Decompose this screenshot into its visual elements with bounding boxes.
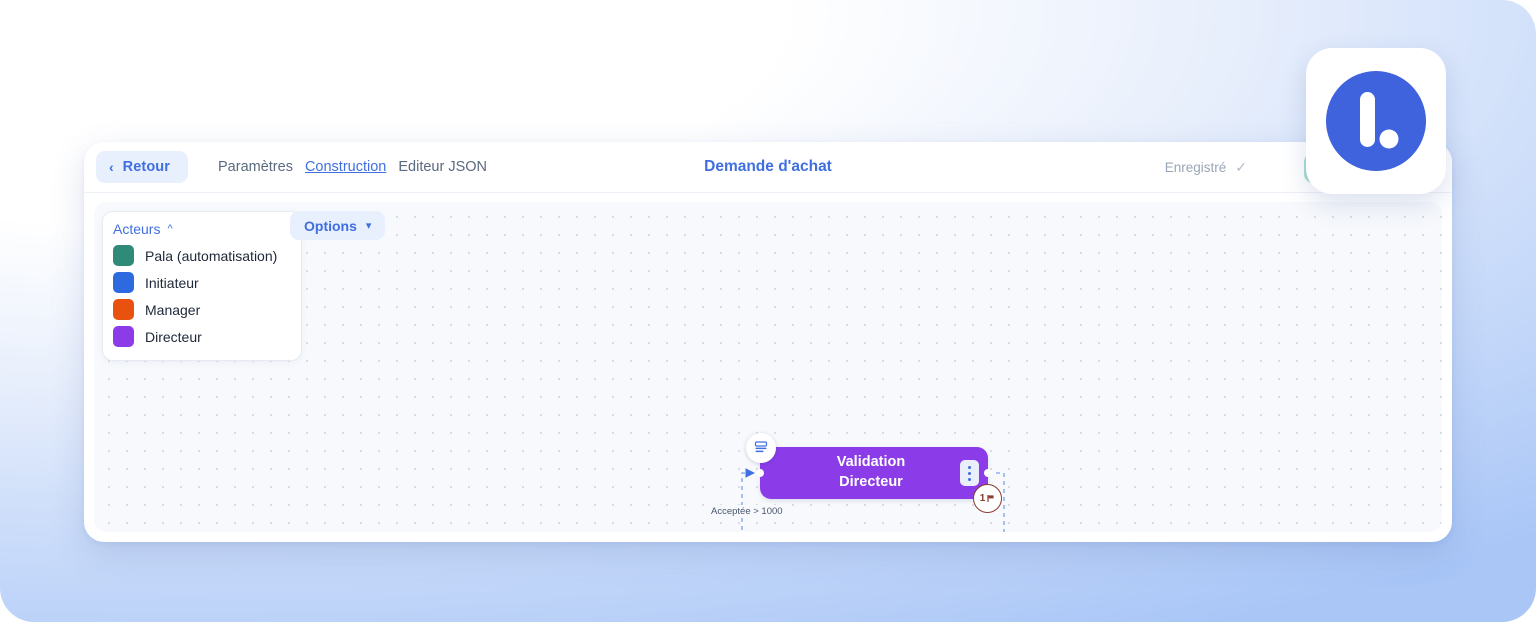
pala-logo [1306,48,1446,194]
breadcrumb: Paramètres Construction Editeur JSON [218,142,487,192]
legend-item-label: Manager [145,302,200,318]
actors-legend-panel: Acteurs ^ Pala (automatisation) Initiate… [102,211,302,361]
edge-label-condition-high: Acceptée > 1000 [706,505,788,518]
legend-item-pala: Pala (automatisation) [113,242,291,269]
top-bar: ‹ Retour Paramètres Construction Editeur… [84,142,1452,193]
legend-swatch [113,245,134,266]
breadcrumb-item-construction[interactable]: Construction [305,159,386,175]
legend-item-initiateur: Initiateur [113,269,291,296]
node-input-port [756,469,764,477]
legend-swatch [113,299,134,320]
save-status-label: Enregistré [1165,160,1227,175]
legend-item-directeur: Directeur [113,323,291,350]
app-window: ‹ Retour Paramètres Construction Editeur… [84,142,1452,542]
legend-item-label: Pala (automatisation) [145,248,277,264]
options-button[interactable]: Options ▾ [290,211,385,240]
actors-legend-header[interactable]: Acteurs ^ [113,221,291,237]
chevron-down-icon: ▾ [366,219,372,232]
legend-item-label: Initiateur [145,275,199,291]
node-line-2: Directeur [839,474,903,490]
flow-node-label: Validation Directeur [799,453,950,492]
form-icon [746,433,776,463]
breadcrumb-item-editeur-json[interactable]: Editeur JSON [398,159,487,175]
flow-node-validation-directeur[interactable]: Validation Directeur 1 [760,447,988,499]
legend-item-manager: Manager [113,296,291,323]
check-icon: ✓ [1235,159,1247,176]
flag-icon [986,494,995,503]
node-output-port [984,469,992,477]
flow-canvas[interactable]: Acteurs ^ Pala (automatisation) Initiate… [94,202,1442,532]
back-button-label: Retour [123,159,170,175]
save-status: Enregistré ✓ [1165,142,1247,192]
node-line-1: Validation [837,454,906,470]
page-root: ‹ Retour Paramètres Construction Editeur… [0,0,1536,622]
kebab-menu-icon[interactable] [960,460,979,486]
chevron-up-icon: ^ [167,223,172,235]
legend-swatch [113,326,134,347]
status-badge-count: 1 [980,492,986,506]
options-button-label: Options [304,218,357,234]
actors-legend-title: Acteurs [113,221,160,237]
legend-swatch [113,272,134,293]
breadcrumb-item-parametres[interactable]: Paramètres [218,159,293,175]
status-badge: 1 [973,484,1002,513]
chevron-left-icon: ‹ [109,160,114,174]
legend-item-label: Directeur [145,329,202,345]
pala-logo-mark [1323,68,1429,174]
back-button[interactable]: ‹ Retour [96,151,188,183]
